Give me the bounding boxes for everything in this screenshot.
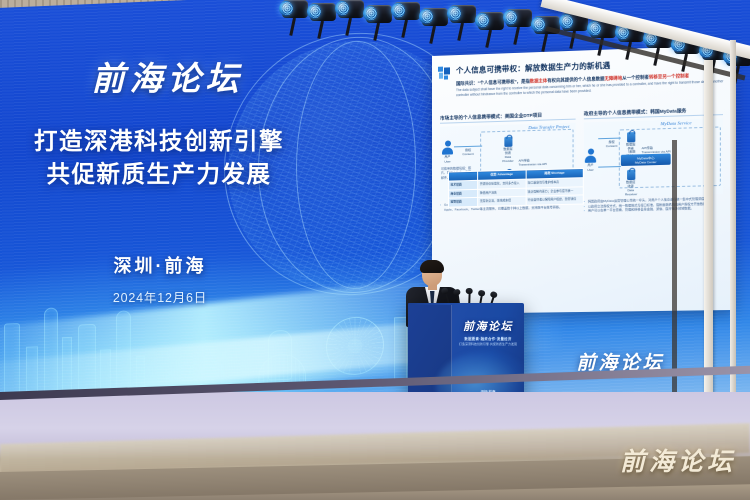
stage-light-icon — [394, 2, 420, 32]
stage-light-icon — [450, 5, 476, 35]
slide-left-consent-en: Consent — [458, 153, 478, 157]
stage-photo: 前海论坛 打造深港科技创新引擎 共促新质生产力发展 深圳·前海 2024年12月… — [0, 0, 750, 500]
arch-building-icon — [258, 353, 306, 385]
cell: 无需新立法，落地成本低 — [478, 197, 526, 207]
cell: 行业自律难以保障用户权益，监管缺位 — [526, 195, 584, 205]
slide-subtitle-tail: 从一个控制者 — [622, 75, 649, 81]
podium-line1: 数据要素·融资合作·流量经济 — [455, 336, 521, 341]
slide-right-diagram-title: MyData Service — [661, 120, 692, 127]
slide-right-column: 政府主导的个人信息携带模式：韩国MyData服务 MyData Service … — [584, 107, 723, 213]
slide-right-receiver-en: Data Receiver — [625, 189, 636, 197]
ferris-wheel-icon — [326, 316, 384, 376]
slide-left-user-icon: 用户 User — [442, 141, 453, 165]
truss-vertical-outer — [730, 40, 736, 440]
slide-subtitle-prefix: 国际共识： — [456, 80, 478, 86]
backdrop-city: 深圳·前海 — [60, 252, 260, 278]
slide-right-consent-en: Consent — [601, 145, 622, 149]
corner-watermark: 前海论坛 — [620, 442, 736, 478]
slide-right-user-label-en: User — [585, 169, 596, 173]
slide-right-diagram: MyData Service 用户 User 授权 Consent 数据提供者（… — [584, 118, 723, 197]
podium-logo: 前海论坛 — [455, 318, 521, 334]
podium-line2: 打造深港科技创新引擎·共促新质生产力发展 — [452, 342, 524, 346]
slide-subtitle-red2: 无障碍地 — [604, 75, 622, 81]
slide-right-center-en: MyData Center — [635, 160, 657, 165]
slide-right-data-receiver-node: 数据接收者 Data Receiver — [625, 170, 636, 197]
stage-light-icon — [366, 5, 392, 35]
slide-right-heading: 政府主导的个人信息携带模式：韩国MyData服务 — [584, 107, 723, 120]
backdrop-headline-line2: 共促新质生产力发展 — [14, 155, 304, 189]
stage-light-icon — [478, 12, 504, 42]
globe-arc-icon — [296, 38, 416, 291]
cell: 监管层面 — [448, 198, 477, 207]
slide-subtitle-quote: “个人信息可携带权”，是指 — [478, 79, 530, 86]
slide-right-bullets: 韩国政府由MyData运营管理公司统一牵头，对用户个人信息进行统一集中式管理调度… — [584, 196, 723, 212]
stage-light-icon — [422, 8, 448, 38]
slide-left-data-provider-node: 数据提供者 Data Provider — [502, 137, 513, 164]
slide-subtitle-red3: 转移至另一个控制者 — [649, 73, 689, 79]
slide-left-column: 市场主导的个人信息携带模式：美国企业DTP项目 Data Transfer Pr… — [440, 112, 576, 212]
stage-light-icon — [282, 0, 308, 30]
monument-icon — [268, 330, 292, 381]
slide-subtitle-mid: 有权向其提供的个人信息数据 — [547, 76, 604, 83]
presentation-slide: 个人信息可携带权：解放数据生产力的新机遇 国际共识：“个人信息可携带权”，是指数… — [432, 45, 734, 314]
slide-left-provider-en: Data Provider — [502, 156, 513, 164]
slide-right-user-icon: 用户 User — [585, 149, 596, 173]
stage-light-icon — [338, 0, 364, 30]
stage-light-icon — [506, 9, 532, 39]
slide-subtitle-red1: 数据主体 — [530, 78, 547, 84]
stage-light-rig — [0, 0, 750, 70]
backdrop-date: 2024年12月6日 — [60, 287, 260, 306]
slide-left-table: 优势 Advantage 局限 Shortage 技术层面 开源协议标准化，支持… — [448, 168, 584, 207]
slide-left-heading: 市场主导的个人信息携带模式：美国企业DTP项目 — [440, 112, 576, 124]
speaker-hair — [420, 260, 444, 273]
stage-light-icon — [310, 3, 336, 33]
truss-vertical-post — [704, 60, 713, 410]
backdrop-headline-line1: 打造深港科技创新引擎 — [14, 122, 304, 156]
slide-right-mydata-center: MyData中心 MyData Center — [621, 154, 671, 167]
slide-left-user-label-en: User — [442, 160, 453, 164]
